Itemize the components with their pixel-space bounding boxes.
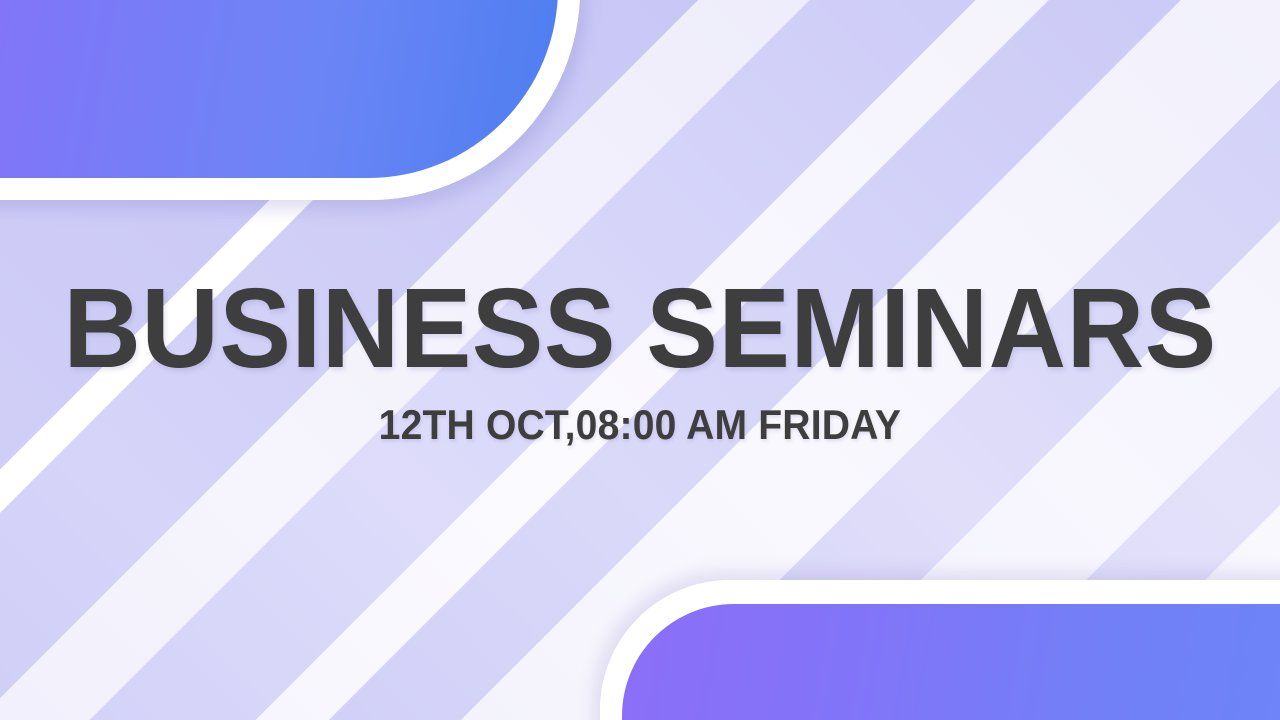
poster-canvas: BUSINESS SEMINARS 12TH OCT,08:00 AM FRID… bbox=[0, 0, 1280, 720]
bottom-right-block-fill bbox=[622, 604, 1280, 720]
bottom-right-gradient-block bbox=[600, 580, 1280, 720]
top-left-gradient-block bbox=[0, 0, 580, 200]
